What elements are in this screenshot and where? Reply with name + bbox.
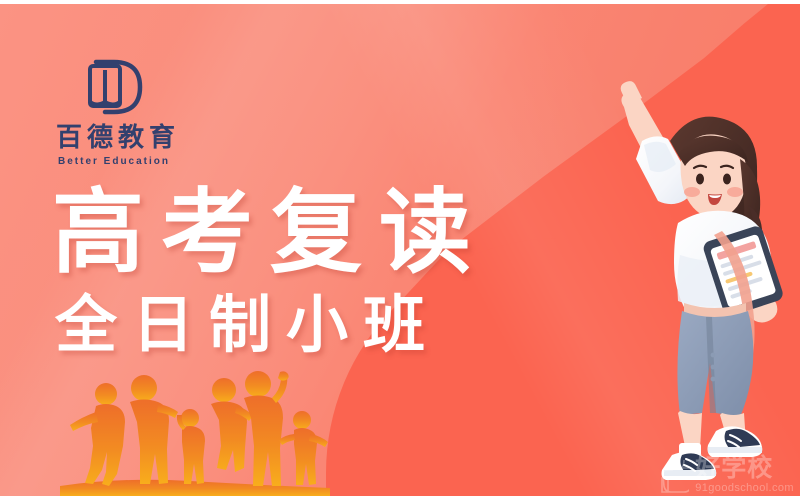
bottom-white-edge [0, 496, 800, 504]
thumbs-up-icon [659, 460, 689, 494]
logo-name-en: Better Education [58, 156, 246, 167]
watermark-text-en: 91goodschool.com [695, 483, 794, 494]
headline-line-2: 全日制小班 [55, 288, 488, 361]
watermark-text-cn: 好学校 [695, 455, 794, 480]
book-in-d-monogram-icon [74, 58, 144, 116]
cheering-student-girl-illustration [572, 55, 800, 496]
site-watermark: 好学校 91goodschool.com [659, 455, 794, 494]
headline-line-1: 高考复读 [52, 186, 488, 280]
headline-block: 高考复读 全日制小班 [52, 186, 488, 361]
student-group-silhouettes [52, 368, 342, 496]
top-white-edge [0, 0, 800, 4]
promo-banner: 百德教育 Better Education 高考复读 全日制小班 好学校 91g… [0, 0, 800, 504]
brand-logo[interactable]: 百德教育 Better Education [56, 58, 246, 167]
logo-name-cn: 百德教育 [56, 125, 246, 152]
